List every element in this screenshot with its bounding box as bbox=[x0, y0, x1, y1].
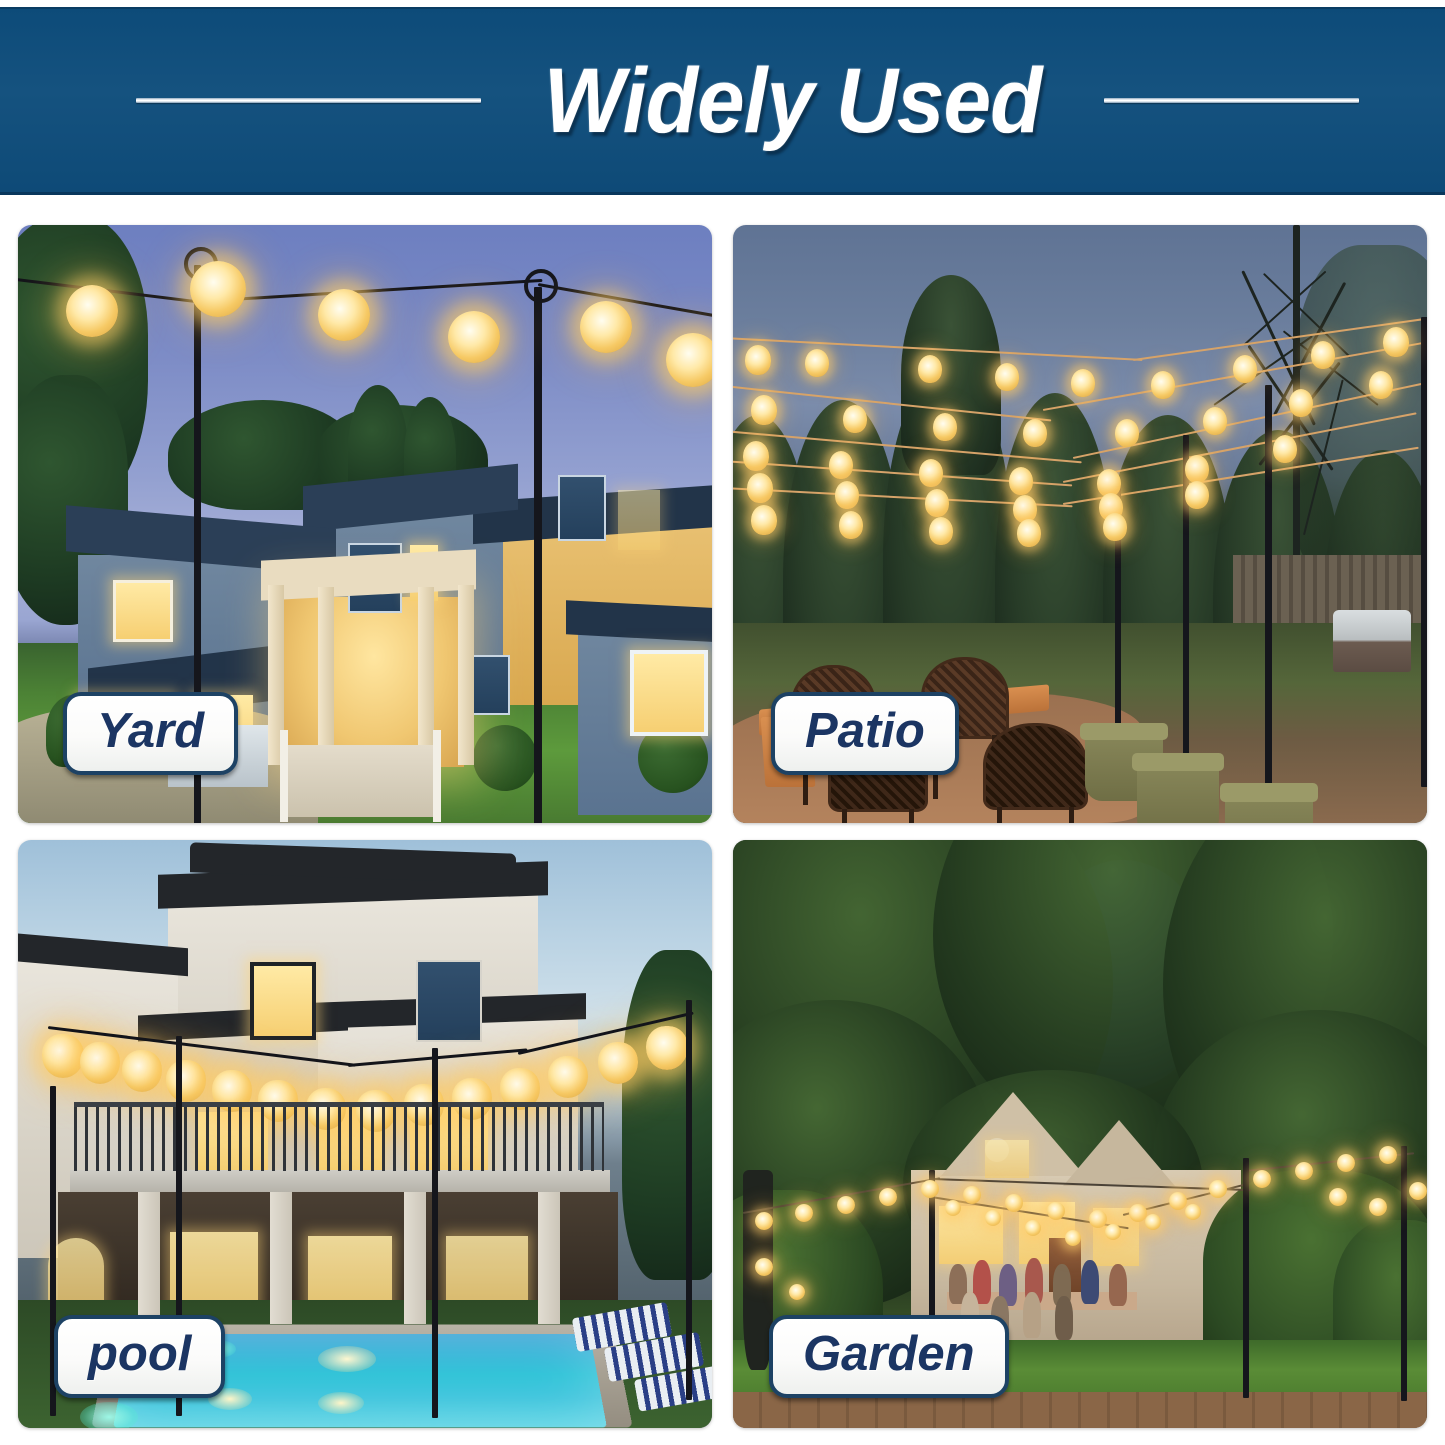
light-bulb bbox=[666, 335, 712, 387]
light-bulb bbox=[1005, 1196, 1023, 1212]
light-bulb bbox=[1209, 1182, 1227, 1198]
pool-light-reflection bbox=[318, 1392, 364, 1414]
storage-bin bbox=[1333, 610, 1411, 672]
panel-garden[interactable]: Garden bbox=[733, 840, 1427, 1428]
light-bulb bbox=[747, 475, 773, 503]
light-bulb bbox=[879, 1190, 897, 1206]
light-bulb bbox=[448, 313, 500, 363]
light-bulb bbox=[1337, 1156, 1355, 1172]
light-bulb bbox=[925, 491, 949, 517]
light-bulb bbox=[743, 443, 769, 471]
header-rule-left-icon bbox=[136, 98, 481, 103]
window-lit bbox=[618, 490, 660, 550]
light-bulb bbox=[1329, 1190, 1347, 1206]
light-bulb bbox=[985, 1212, 1001, 1226]
guest bbox=[1055, 1296, 1073, 1340]
light-bulb bbox=[995, 365, 1019, 391]
light-bulb bbox=[1071, 371, 1095, 397]
light-bulb bbox=[963, 1188, 981, 1204]
light-bulb bbox=[1295, 1164, 1313, 1180]
light-bulb bbox=[1023, 421, 1047, 447]
light-bulb bbox=[80, 1044, 120, 1084]
evergreen-tree bbox=[901, 275, 1001, 475]
light-bulb bbox=[580, 303, 632, 353]
header-banner-inner: Widely Used bbox=[0, 55, 1445, 147]
light-bulb bbox=[1369, 1200, 1387, 1216]
panel-yard[interactable]: Yard bbox=[18, 225, 712, 823]
light-bulb bbox=[1409, 1184, 1427, 1200]
light-bulb bbox=[646, 1028, 688, 1070]
window-lit bbox=[630, 650, 708, 736]
window-lit bbox=[250, 962, 316, 1040]
panel-label-text: Patio bbox=[805, 705, 925, 758]
light-bulb bbox=[837, 1198, 855, 1214]
light-bulb bbox=[1115, 421, 1139, 447]
portico-column bbox=[418, 587, 434, 765]
light-bulb bbox=[751, 507, 777, 535]
window-dark bbox=[416, 960, 482, 1042]
light-bulb bbox=[839, 513, 863, 539]
light-bulb bbox=[1017, 521, 1041, 547]
window-lit bbox=[985, 1140, 1029, 1178]
light-bulb bbox=[1273, 437, 1297, 463]
light-bulb bbox=[835, 483, 859, 509]
panel-pool[interactable]: pool bbox=[18, 840, 712, 1428]
light-bulb bbox=[1009, 469, 1033, 495]
infographic-page: Widely Used bbox=[0, 0, 1445, 1445]
light-bulb bbox=[42, 1036, 84, 1078]
panel-patio[interactable]: Patio bbox=[733, 225, 1427, 823]
entry-stairs bbox=[288, 745, 438, 817]
light-bulb bbox=[945, 1202, 961, 1216]
light-bulb bbox=[843, 407, 867, 433]
panel-label-garden: Garden bbox=[769, 1315, 1009, 1398]
pole-hook-icon bbox=[524, 269, 558, 303]
balcony-railing bbox=[74, 1105, 604, 1171]
light-bulb bbox=[1379, 1148, 1397, 1164]
house-gable bbox=[1063, 1120, 1175, 1186]
page-title: Widely Used bbox=[544, 55, 1042, 147]
porch-column bbox=[538, 1192, 560, 1324]
porch-column bbox=[138, 1192, 160, 1324]
light-pole bbox=[1421, 317, 1427, 787]
light-bulb bbox=[919, 461, 943, 487]
panel-label-text: Yard bbox=[97, 705, 204, 758]
light-pole bbox=[534, 287, 542, 823]
light-bulb bbox=[1233, 357, 1257, 383]
panel-label-pool: pool bbox=[54, 1315, 225, 1398]
light-bulb bbox=[805, 351, 829, 377]
light-bulb bbox=[829, 453, 853, 479]
light-bulb bbox=[1145, 1216, 1161, 1230]
guest bbox=[1081, 1260, 1099, 1304]
light-pole bbox=[1243, 1158, 1249, 1398]
light-pole bbox=[686, 1000, 692, 1400]
photo-grid: Yard bbox=[18, 225, 1427, 1428]
light-bulb bbox=[1103, 515, 1127, 541]
light-bulb bbox=[795, 1206, 813, 1222]
pool-light-reflection bbox=[318, 1346, 376, 1372]
window-lit bbox=[113, 580, 173, 642]
pool-light-reflection bbox=[80, 1402, 138, 1428]
light-bulb bbox=[1025, 1222, 1041, 1236]
portico-column bbox=[458, 585, 474, 765]
stair-railing bbox=[433, 730, 441, 822]
guest bbox=[1023, 1292, 1041, 1338]
light-bulb bbox=[1369, 373, 1393, 399]
stair-railing bbox=[280, 730, 288, 822]
light-bulb bbox=[745, 347, 771, 375]
planter-pot bbox=[1137, 753, 1219, 823]
light-pole bbox=[1401, 1146, 1407, 1401]
guest bbox=[1109, 1264, 1127, 1306]
patio-chair bbox=[983, 723, 1088, 823]
porch-column bbox=[270, 1192, 292, 1324]
balcony-rail-top bbox=[74, 1102, 604, 1107]
tree-foliage bbox=[622, 950, 712, 1280]
light-bulb bbox=[598, 1044, 638, 1084]
portico-column bbox=[318, 587, 334, 765]
light-bulb bbox=[1151, 373, 1175, 399]
light-bulb bbox=[548, 1058, 588, 1098]
light-bulb bbox=[190, 263, 246, 317]
light-bulb bbox=[66, 287, 118, 337]
light-bulb bbox=[755, 1260, 773, 1276]
light-bulb bbox=[1203, 409, 1227, 435]
light-bulb bbox=[122, 1052, 162, 1092]
light-bulb bbox=[318, 291, 370, 341]
light-bulb bbox=[929, 519, 953, 545]
planter-pot bbox=[1225, 783, 1313, 823]
light-pole bbox=[1265, 385, 1272, 795]
string-light-wire bbox=[198, 279, 543, 303]
light-bulb bbox=[1185, 483, 1209, 509]
light-bulb bbox=[789, 1286, 805, 1300]
porch-column bbox=[404, 1192, 426, 1324]
light-bulb bbox=[1289, 391, 1313, 417]
header-banner: Widely Used bbox=[0, 7, 1445, 195]
light-bulb bbox=[921, 1182, 939, 1198]
panel-label-text: Garden bbox=[803, 1328, 975, 1381]
light-bulb bbox=[918, 357, 942, 383]
window-dark bbox=[558, 475, 606, 541]
panel-label-yard: Yard bbox=[63, 692, 238, 775]
light-bulb bbox=[1185, 1206, 1201, 1220]
panel-label-text: pool bbox=[88, 1328, 191, 1381]
light-bulb bbox=[166, 1062, 206, 1102]
shrub bbox=[473, 725, 537, 791]
panel-label-patio: Patio bbox=[771, 692, 959, 775]
light-bulb bbox=[1047, 1204, 1065, 1220]
header-rule-right-icon bbox=[1104, 98, 1359, 103]
light-bulb bbox=[1253, 1172, 1271, 1188]
light-bulb bbox=[1065, 1232, 1081, 1246]
light-bulb bbox=[1311, 343, 1335, 369]
light-bulb bbox=[1105, 1226, 1121, 1240]
light-bulb bbox=[1185, 457, 1209, 483]
light-bulb bbox=[751, 397, 777, 425]
light-bulb bbox=[933, 415, 957, 441]
light-bulb bbox=[755, 1214, 773, 1230]
light-bulb bbox=[1383, 329, 1409, 357]
balcony-deck bbox=[70, 1170, 610, 1192]
light-pole bbox=[432, 1048, 438, 1418]
